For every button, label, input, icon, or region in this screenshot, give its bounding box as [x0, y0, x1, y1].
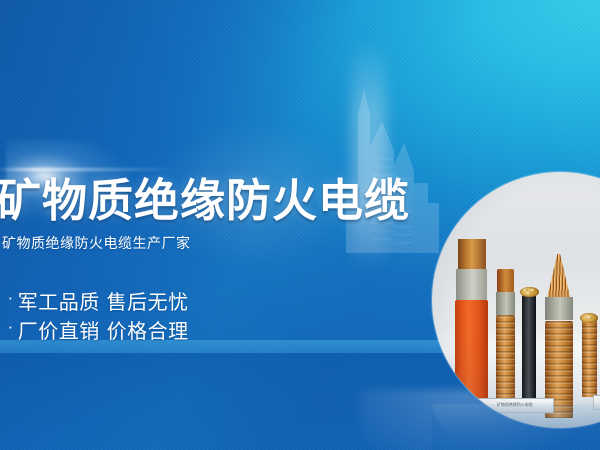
product-photo-vignette — [432, 172, 600, 428]
list-item: · 军工品质 售后无忧 — [8, 287, 189, 316]
list-item: · 厂价直销 价格合理 — [8, 316, 189, 345]
product-banner: 矿物质绝缘防火电缆 矿物绝缘电缆 矿物质绝缘防火电缆 矿物质绝缘防火电缆生产厂家… — [0, 0, 600, 450]
lens-flare-streak-icon — [0, 168, 179, 171]
product-photo: 矿物质绝缘防火电缆 矿物绝缘电缆 — [432, 172, 600, 428]
feature-list: · 军工品质 售后无忧 · 厂价直销 价格合理 — [8, 287, 189, 345]
list-item-label: 军工品质 售后无忧 — [18, 292, 189, 312]
page-title: 矿物质绝缘防火电缆 — [0, 178, 410, 223]
list-item-label: 厂价直销 价格合理 — [18, 321, 189, 341]
product-photo-reflection — [432, 404, 600, 450]
reflection-fade — [432, 404, 600, 450]
bullet-dot-icon: · — [8, 292, 13, 307]
subtitle: 矿物质绝缘防火电缆生产厂家 — [2, 237, 191, 251]
bullet-dot-icon: · — [8, 321, 13, 336]
